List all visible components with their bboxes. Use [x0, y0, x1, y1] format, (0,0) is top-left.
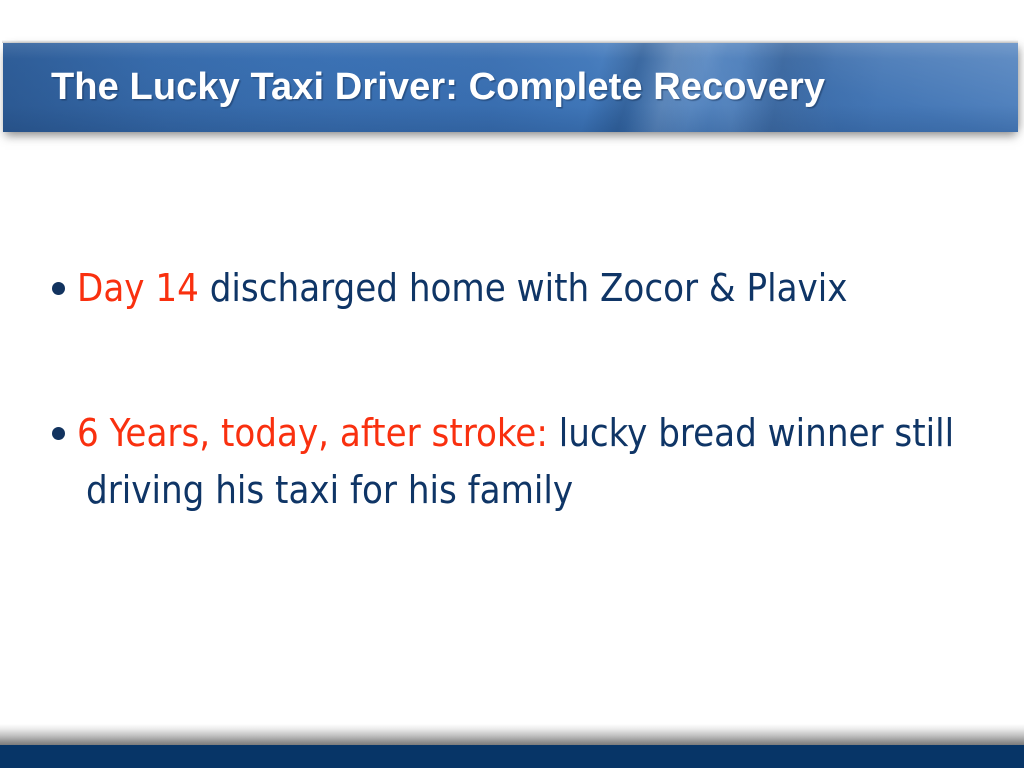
bullet-dot-icon — [52, 282, 65, 295]
slide-title: The Lucky Taxi Driver: Complete Recovery — [51, 43, 825, 132]
bullet-text-line: 6 Years, today, after stroke: lucky brea… — [52, 405, 1012, 519]
footer-shadow-strip — [0, 724, 1024, 745]
footer-bar — [0, 745, 1024, 768]
slide-top-margin — [0, 0, 1024, 40]
title-banner: The Lucky Taxi Driver: Complete Recovery — [3, 43, 1018, 132]
presentation-slide: The Lucky Taxi Driver: Complete Recovery… — [0, 0, 1024, 768]
bullet-text-line: Day 14 discharged home with Zocor & Plav… — [52, 260, 1012, 317]
bullet-segment-body: discharged home with Zocor & Plavix — [210, 266, 848, 310]
bullet-item: 6 Years, today, after stroke: lucky brea… — [52, 405, 1012, 519]
bullet-dot-icon — [52, 427, 65, 440]
bullet-segment-highlight: 6 Years, today, after stroke: — [77, 411, 559, 455]
bullet-item: Day 14 discharged home with Zocor & Plav… — [52, 260, 1012, 317]
bullet-segment-highlight: Day 14 — [77, 266, 210, 310]
slide-body: Day 14 discharged home with Zocor & Plav… — [0, 150, 1024, 710]
